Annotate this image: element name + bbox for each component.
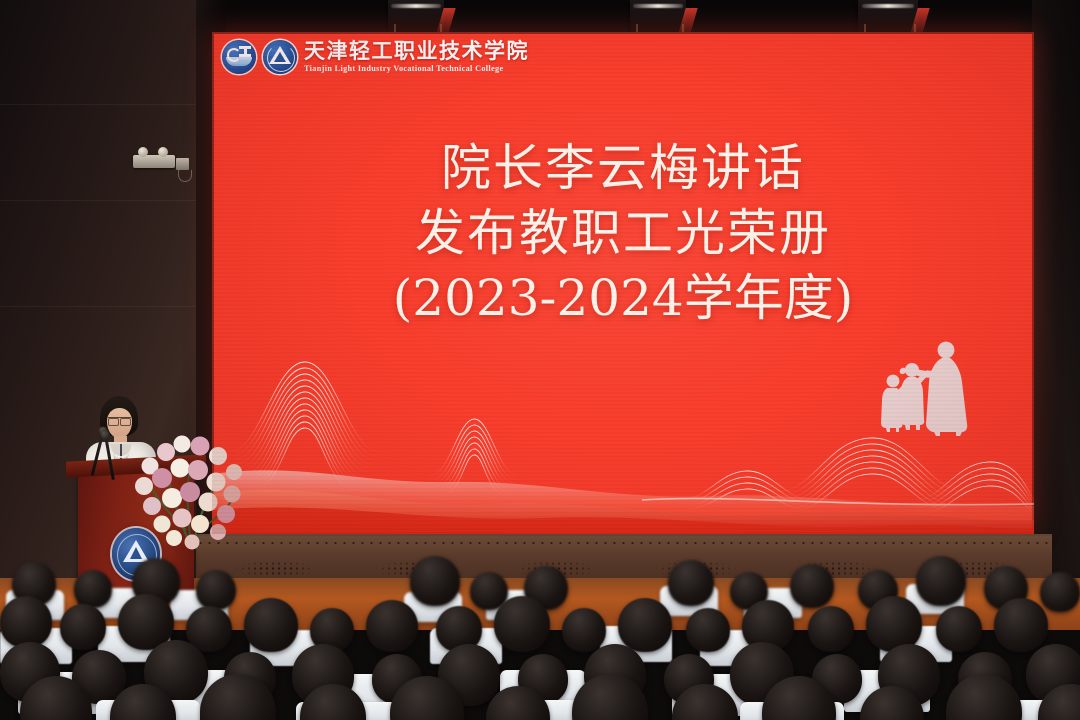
right-wall <box>1032 0 1080 600</box>
audience-head <box>410 556 460 606</box>
title-line-3: (2023-2024学年度) <box>212 266 1034 331</box>
audience-seating <box>0 556 1080 720</box>
audience-head <box>668 560 714 606</box>
flower-blooms <box>135 436 242 550</box>
audience-head <box>618 598 672 652</box>
audience-head <box>196 570 236 610</box>
college-name-cn: 天津轻工职业技术学院 <box>304 41 529 62</box>
audience-head <box>936 606 982 652</box>
college-name-block: 天津轻工职业技术学院 Tianjin Light Industry Vocati… <box>304 41 529 73</box>
tianjin-circular-logo-icon <box>222 40 256 74</box>
audience-head <box>994 598 1048 652</box>
emergency-lamp-icon <box>133 155 175 168</box>
wall-seam <box>0 104 218 105</box>
led-presentation-screen: 天津轻工职业技术学院 Tianjin Light Industry Vocati… <box>212 32 1034 534</box>
screen-title: 院长李云梅讲话 发布教职工光荣册 (2023-2024学年度) <box>212 136 1034 331</box>
wall-switch-icon[interactable] <box>176 158 189 170</box>
title-line-2: 发布教职工光荣册 <box>212 201 1034 266</box>
teacher-and-children-silhouette-icon <box>872 336 992 456</box>
audience-head <box>686 608 730 652</box>
floral-arrangement <box>128 420 256 550</box>
wall-seam <box>0 200 218 201</box>
audience-head <box>916 556 966 606</box>
audience-head <box>366 600 418 652</box>
audience-head <box>0 596 52 648</box>
conference-hall-photo: 天津轻工职业技术学院 Tianjin Light Industry Vocati… <box>0 0 1080 720</box>
college-logo-bar: 天津轻工职业技术学院 Tianjin Light Industry Vocati… <box>222 40 529 74</box>
audience-head <box>74 570 112 608</box>
audience-head <box>494 596 550 652</box>
title-line-1: 院长李云梅讲话 <box>212 136 1034 201</box>
audience-head <box>562 608 606 652</box>
wall-seam <box>0 306 218 307</box>
audience-head <box>790 564 834 608</box>
college-name-en: Tianjin Light Industry Vocational Techni… <box>304 65 529 73</box>
college-triangle-logo-icon <box>263 40 297 74</box>
audience-head <box>244 598 298 652</box>
audience-head <box>808 606 854 652</box>
audience-head <box>1040 572 1080 612</box>
audience-head <box>60 604 106 650</box>
